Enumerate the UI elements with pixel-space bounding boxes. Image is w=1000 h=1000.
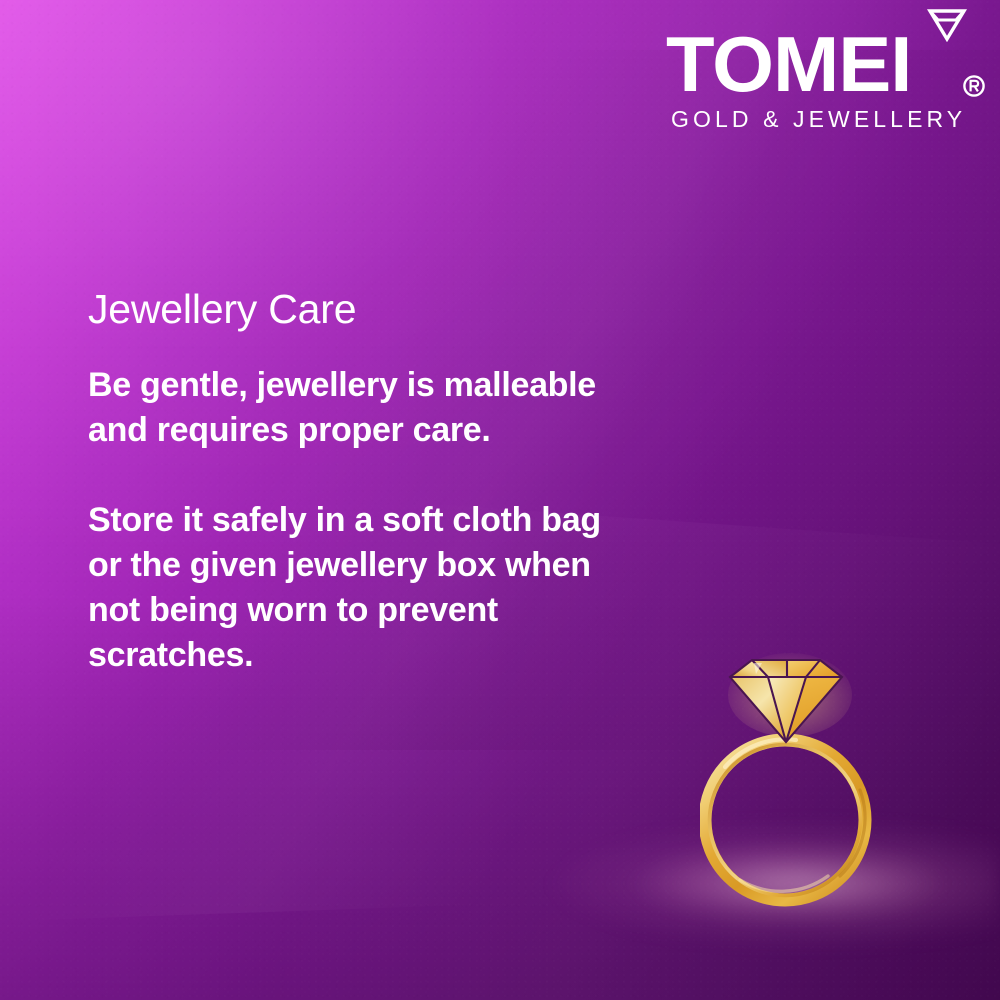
- logo-tagline: GOLD & JEWELLERY: [671, 106, 989, 132]
- logo-wordmark: TOMEI: [666, 28, 972, 100]
- tomei-logo[interactable]: TOMEI GOLD & JEWELLERY: [666, 6, 991, 138]
- gold-ring-band: [705, 739, 865, 900]
- care-paragraph-2: Store it safely in a soft cloth bag or t…: [88, 498, 633, 678]
- diamond-ring-illustration: [700, 650, 890, 915]
- care-paragraph-1: Be gentle, jewellery is malleable and re…: [88, 363, 633, 453]
- jewellery-care-poster: TOMEI GOLD & JEWELLERY Jewellery Care Be…: [0, 0, 1000, 1000]
- page-title: Jewellery Care: [88, 283, 668, 335]
- registered-trademark-icon: [962, 74, 986, 98]
- copy-block: Jewellery Care Be gentle, jewellery is m…: [88, 283, 668, 678]
